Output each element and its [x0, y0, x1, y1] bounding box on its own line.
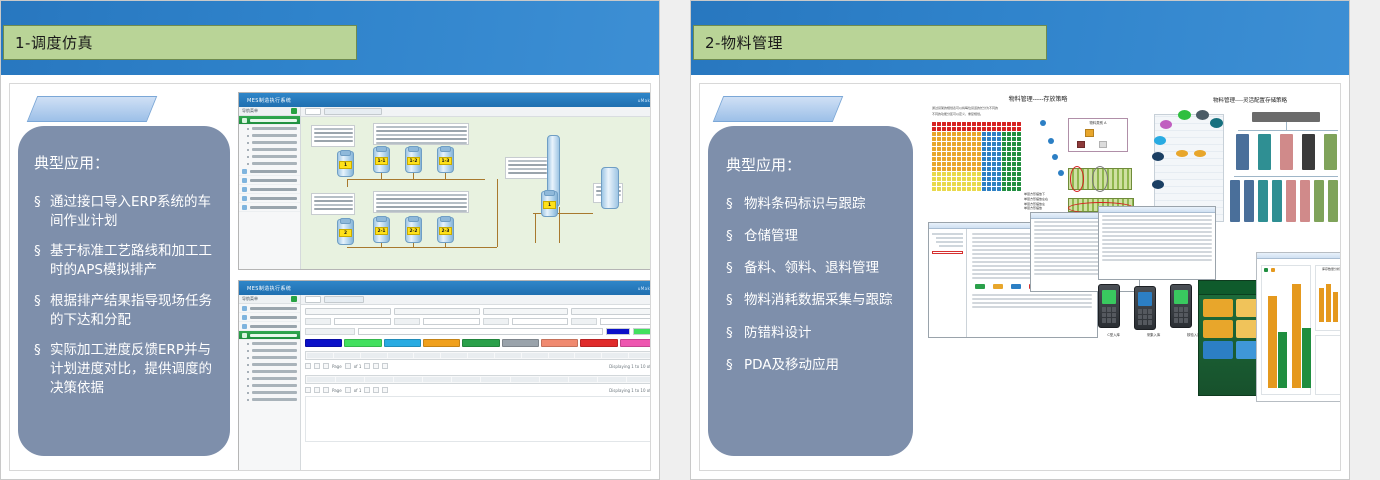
sidebar-subitem[interactable] [239, 396, 300, 403]
sidebar-subitem-label [252, 342, 297, 345]
page-of-label: of 1 [354, 364, 362, 369]
storage-slot [957, 142, 961, 146]
sidebar-item-label [250, 119, 297, 122]
tab-production-line[interactable] [324, 108, 382, 115]
storage-slot [942, 127, 946, 131]
storage-slot [947, 147, 951, 151]
storage-slot [962, 177, 966, 181]
toolbar-button[interactable] [394, 308, 480, 315]
storage-slot [997, 172, 1001, 176]
grid-pager-2[interactable]: Page of 1 Displaying 1 to 10 of 10 [305, 387, 651, 393]
storage-slot [997, 157, 1001, 161]
pda-screen [1138, 292, 1152, 306]
grid-column [423, 377, 451, 382]
storage-slot [932, 172, 936, 176]
storage-slot [987, 172, 991, 176]
bullet-item: § PDA及移动应用 [726, 356, 899, 375]
tank-vessel: 2-1 [373, 217, 390, 243]
pipe-segment [559, 207, 560, 243]
storage-slot [932, 137, 936, 141]
storage-slot [947, 187, 951, 191]
storage-slot [952, 132, 956, 136]
pda-keypad[interactable] [1138, 309, 1152, 325]
tank-label: 1-3 [439, 157, 452, 165]
action-button-fix[interactable] [620, 339, 651, 347]
mes-titlebar: MES制造执行系统 uMaker [239, 93, 651, 107]
grid-header [305, 351, 651, 360]
field-label [305, 328, 355, 335]
mes-brand: uMaker [638, 286, 651, 291]
field-label [571, 318, 597, 325]
storage-slot [967, 182, 971, 186]
storage-slot [1007, 137, 1011, 141]
storage-slot [932, 127, 936, 131]
sidebar-item-system-mgmt[interactable] [239, 313, 300, 322]
storage-slot [972, 177, 976, 181]
storage-slot [1017, 187, 1021, 191]
storage-slot [952, 127, 956, 131]
storage-slot [1012, 122, 1016, 126]
storage-slot [947, 182, 951, 186]
status-input[interactable] [358, 328, 603, 335]
toolbar-row[interactable] [305, 308, 651, 315]
callout-balloon [1154, 136, 1166, 145]
inventory-bar-chart-window[interactable]: 库存数量分析 [1256, 252, 1341, 402]
highlight-ellipse-red [1070, 166, 1084, 192]
bullet-text: 通过接口导入ERP系统的车间作业计划 [50, 193, 216, 231]
terminal-tile[interactable] [1203, 320, 1233, 338]
prev-page-button[interactable] [323, 387, 329, 393]
action-button-cancel[interactable] [580, 339, 617, 347]
storage-slot [977, 142, 981, 146]
production-plan-form: Page of 1 Displaying 1 to 10 of 10 [301, 305, 651, 471]
energy-icon [242, 205, 247, 210]
date-input[interactable] [334, 318, 391, 325]
storage-slot [972, 127, 976, 131]
last-page-button[interactable] [373, 387, 379, 393]
storage-slot [957, 137, 961, 141]
mes-sidebar[interactable]: 导航菜单 [239, 107, 301, 269]
sidebar-item-energy-mgmt[interactable] [239, 203, 300, 212]
refresh-button[interactable] [382, 387, 388, 393]
storage-slot [997, 152, 1001, 156]
sidebar-subitem[interactable] [239, 347, 300, 354]
storage-slot [982, 132, 986, 136]
storage-slot [942, 187, 946, 191]
storage-slot [1017, 147, 1021, 151]
sidebar-item-production-monitor[interactable] [239, 304, 300, 313]
sidebar-item-label [250, 179, 297, 182]
tree-node-aux [1324, 134, 1337, 170]
toolbar-button[interactable] [305, 308, 391, 315]
tank-info-box [505, 157, 549, 179]
bullet-dot-icon [247, 399, 249, 401]
storage-slot [1012, 162, 1016, 166]
storage-slot [1007, 142, 1011, 146]
storage-slot [987, 132, 991, 136]
grid-column [511, 377, 539, 382]
storage-slot [952, 157, 956, 161]
storage-slot [1017, 127, 1021, 131]
sidebar-subitem[interactable] [239, 146, 300, 153]
mes-process-flow-screenshot[interactable]: MES制造执行系统 uMaker 导航菜单 [238, 92, 651, 270]
action-button-smart[interactable] [541, 339, 578, 347]
terminal-tile[interactable] [1203, 299, 1233, 317]
bullet-text: 实际加工进度反馈ERP并与计划进度对比，提供调度的决策依据 [50, 341, 216, 398]
storage-slot [1012, 167, 1016, 171]
toolbar-button[interactable] [483, 308, 569, 315]
mode-select[interactable] [512, 318, 569, 325]
storage-slot [957, 152, 961, 156]
bullet-text: 物料消耗数据采集与跟踪 [744, 291, 899, 310]
storage-slot [947, 137, 951, 141]
storage-slot [1017, 122, 1021, 126]
storage-slot [1017, 157, 1021, 161]
storage-strategy-note-1: 通过货架的规划表可以将每位货道的长分为不同的 [932, 106, 1148, 111]
storage-slot [1017, 182, 1021, 186]
bar-item [1333, 292, 1338, 322]
sidebar-subitem[interactable] [239, 389, 300, 396]
grid-column [336, 377, 364, 382]
sidebar-item-label [250, 325, 297, 328]
grid-status-text: Displaying 1 to 10 of 10 [609, 388, 651, 393]
storage-slot [947, 172, 951, 176]
tank-label: 2-3 [439, 227, 452, 235]
pda-device-group[interactable]: C型入库 采集入库 核验入库 [1094, 280, 1214, 360]
sidebar-item-plan-schedule[interactable] [239, 185, 300, 194]
storage-slot [1002, 127, 1006, 131]
grid-status-text: Displaying 1 to 10 of 10 [609, 364, 651, 369]
storage-slot [987, 162, 991, 166]
sidebar-item-production-model[interactable] [239, 176, 300, 185]
material-cube-icon [1099, 141, 1107, 148]
line-select[interactable] [600, 318, 651, 325]
mes-title: MES制造执行系统 [247, 285, 291, 292]
mes-sidebar[interactable]: 导航菜单 [239, 295, 301, 471]
card-title: 典型应用： [34, 152, 216, 173]
bar-actual [1278, 332, 1287, 388]
toolbar-button[interactable] [571, 308, 651, 315]
storage-slot [937, 127, 941, 131]
window-titlebar [1099, 207, 1215, 213]
tank-label: 1-1 [375, 157, 388, 165]
mes-body: 导航菜单 [239, 295, 651, 471]
material-type-box: 物料类别 A [1068, 118, 1128, 152]
tree-leaf [1258, 180, 1268, 222]
sidebar-subitem[interactable] [239, 340, 300, 347]
confirm-badge[interactable] [606, 328, 630, 335]
storage-slot [1012, 182, 1016, 186]
sidebar-subitem[interactable] [239, 153, 300, 160]
tank-label: 2-1 [375, 227, 388, 235]
grid-column [334, 353, 360, 358]
storage-slot [967, 132, 971, 136]
grid-column [452, 377, 480, 382]
pda-keypad[interactable] [1174, 307, 1188, 323]
section-marker-icon: § [34, 292, 50, 330]
storage-slot [982, 182, 986, 186]
pda-screen [1174, 290, 1188, 304]
storage-slot-grid [932, 122, 1021, 191]
storage-slot [987, 142, 991, 146]
storage-slot [1017, 137, 1021, 141]
sidebar-subitem[interactable] [239, 125, 300, 132]
prev-page-button[interactable] [323, 363, 329, 369]
bar-item [1340, 286, 1341, 322]
first-page-button[interactable] [314, 363, 320, 369]
chart-panel-main [1261, 265, 1311, 395]
pipe-segment [497, 179, 498, 247]
storage-slot [977, 147, 981, 151]
storage-slot [937, 142, 941, 146]
storage-slot [992, 187, 996, 191]
storage-slot [977, 187, 981, 191]
sidebar-subitem-label [252, 377, 297, 380]
tree-leaf [1314, 180, 1324, 222]
tank-label: 1 [339, 161, 352, 169]
terminal-tile[interactable] [1203, 341, 1233, 359]
sidebar-item-production-model[interactable] [239, 322, 300, 331]
storage-slot [982, 142, 986, 146]
action-button-release[interactable] [344, 339, 381, 347]
tab-home[interactable] [305, 108, 321, 115]
sidebar-subitem[interactable] [239, 368, 300, 375]
pipe-segment [347, 179, 485, 180]
sidebar-subitem[interactable] [239, 361, 300, 368]
sidebar-item-label [250, 197, 297, 200]
route-input[interactable] [423, 318, 480, 325]
storage-slot [977, 167, 981, 171]
page-size-select[interactable] [305, 387, 311, 393]
sidebar-subitem[interactable] [239, 382, 300, 389]
action-button-confirm[interactable] [423, 339, 460, 347]
storage-slot [992, 172, 996, 176]
pda-device[interactable] [1170, 284, 1192, 328]
window-content[interactable] [1099, 215, 1215, 261]
storage-slot [1007, 172, 1011, 176]
pda-keypad[interactable] [1102, 307, 1116, 323]
action-button-execute[interactable] [462, 339, 499, 347]
bullet-text: 根据排产结果指导现场任务的下达和分配 [50, 292, 216, 330]
forklift-icon [1176, 150, 1188, 157]
storage-slot [932, 122, 936, 126]
page-number-input[interactable] [345, 387, 351, 393]
storage-slot [1012, 127, 1016, 131]
bullet-dot-icon [247, 149, 249, 151]
action-button-update[interactable] [384, 339, 421, 347]
chart-caption: 库存数量分析 [1316, 267, 1341, 271]
pda-device[interactable] [1134, 286, 1156, 330]
storage-slot [967, 167, 971, 171]
storage-slot [932, 147, 936, 151]
bullet-dot-icon [247, 142, 249, 144]
window-tree-pane[interactable] [929, 229, 967, 337]
sidebar-item-production-monitor[interactable] [239, 116, 300, 125]
action-button-row[interactable] [305, 339, 651, 347]
storage-slot [952, 182, 956, 186]
storage-slot [1007, 187, 1011, 191]
grid-column [394, 377, 422, 382]
storage-slot [972, 152, 976, 156]
mes-tabbar[interactable] [301, 295, 651, 305]
mes-body: 导航菜单 [239, 107, 651, 269]
storage-slot [942, 122, 946, 126]
sidebar-item-label [250, 316, 297, 319]
storage-slot [992, 132, 996, 136]
storage-slot [977, 172, 981, 176]
sidebar-header-label: 导航菜单 [242, 108, 258, 114]
storage-slot [987, 157, 991, 161]
filter-row-2[interactable] [305, 328, 651, 335]
storage-slot [962, 172, 966, 176]
storage-slot [947, 127, 951, 131]
storage-slot [1002, 152, 1006, 156]
sidebar-subitem[interactable] [239, 160, 300, 167]
sidebar-subitem[interactable] [239, 139, 300, 146]
model-icon [242, 324, 247, 329]
storage-slot [1017, 152, 1021, 156]
pda-label: 采集入库 [1147, 332, 1161, 337]
release-badge[interactable] [633, 328, 651, 335]
page-number-input[interactable] [345, 363, 351, 369]
collapse-icon[interactable] [291, 108, 297, 114]
pda-device[interactable] [1098, 284, 1120, 328]
storage-slot [957, 127, 961, 131]
page-size-select[interactable] [305, 363, 311, 369]
storage-slot [932, 142, 936, 146]
mes-main-area: 1 1-1 1-2 1-3 2 2-1 2-2 2-3 1 [301, 107, 651, 269]
next-page-button[interactable] [364, 363, 370, 369]
storage-slot [967, 127, 971, 131]
monitor-icon [242, 118, 247, 123]
storage-slot [962, 187, 966, 191]
storage-slot [1007, 162, 1011, 166]
storage-slot [942, 132, 946, 136]
tab-home[interactable] [305, 296, 321, 303]
sidebar-item-plan-schedule[interactable] [239, 331, 300, 340]
mes-production-plan-screenshot[interactable]: MES制造执行系统 uMaker 导航菜单 [238, 280, 651, 471]
bullet-dot-icon [247, 343, 249, 345]
sidebar-item-process-mgmt[interactable] [239, 194, 300, 203]
storage-slot [972, 147, 976, 151]
callout-marker-1 [1040, 120, 1046, 126]
storage-slot [947, 167, 951, 171]
grid-column [441, 353, 467, 358]
storage-slot [977, 162, 981, 166]
section-marker-icon: § [726, 356, 744, 375]
action-button-verify[interactable] [502, 339, 539, 347]
storage-slot [992, 157, 996, 161]
material-query-window[interactable] [1098, 206, 1216, 280]
storage-slot [972, 167, 976, 171]
grid-column [540, 377, 568, 382]
tank-info-box [373, 123, 469, 145]
storage-slot [992, 167, 996, 171]
tank-label: 2-2 [407, 227, 420, 235]
first-page-button[interactable] [314, 387, 320, 393]
storage-slot [957, 172, 961, 176]
grid-column [629, 353, 651, 358]
storage-slot [1007, 157, 1011, 161]
section-marker-icon: § [34, 341, 50, 398]
filter-row[interactable] [305, 318, 651, 325]
storage-slot [942, 172, 946, 176]
sidebar-item-system-mgmt[interactable] [239, 167, 300, 176]
slide-header-band: 1-调度仿真 [1, 1, 659, 75]
storage-slot [1012, 172, 1016, 176]
refresh-button[interactable] [382, 363, 388, 369]
sidebar-subitem-label [252, 127, 297, 130]
storage-slot [962, 167, 966, 171]
action-button-simulate[interactable] [305, 339, 342, 347]
storage-slot [947, 152, 951, 156]
storage-slot [1007, 147, 1011, 151]
callout-balloon [1196, 110, 1209, 120]
page-label: Page [332, 364, 342, 369]
sidebar-subitem-label [252, 134, 297, 137]
pda-label: C型入库 [1107, 332, 1120, 337]
storage-slot [942, 152, 946, 156]
mes-tabbar[interactable] [301, 107, 651, 117]
storage-slot [937, 137, 941, 141]
tank-vessel: 1-1 [373, 147, 390, 173]
slide-title-chip: 2-物料管理 [693, 25, 1047, 60]
grid-pager[interactable]: Page of 1 Displaying 1 to 10 of 10 [305, 363, 651, 369]
storage-slot [952, 187, 956, 191]
storage-slot [947, 122, 951, 126]
storage-slot [957, 182, 961, 186]
tree-node-raw [1236, 134, 1249, 170]
storage-slot [932, 167, 936, 171]
bullet-dot-icon [247, 364, 249, 366]
next-page-button[interactable] [364, 387, 370, 393]
sidebar-item-label [250, 334, 297, 337]
banner-shape [27, 96, 158, 122]
mes-main-area: Page of 1 Displaying 1 to 10 of 10 [301, 295, 651, 471]
sidebar-subitem-label [252, 155, 297, 158]
callout-balloon [1178, 110, 1191, 120]
storage-slot [972, 137, 976, 141]
tab-production-mgmt[interactable] [324, 296, 364, 303]
sidebar-subitem[interactable] [239, 132, 300, 139]
storage-slot [1002, 122, 1006, 126]
sidebar-subitem[interactable] [239, 375, 300, 382]
grid-column [549, 353, 575, 358]
page-of-label: of 1 [354, 388, 362, 393]
slide-title-text: 1-调度仿真 [15, 32, 93, 53]
storage-slot [952, 137, 956, 141]
sidebar-subitem[interactable] [239, 354, 300, 361]
section-marker-icon: § [34, 242, 50, 280]
storage-slot [962, 182, 966, 186]
storage-slot [982, 152, 986, 156]
grid-empty-body [305, 396, 651, 442]
storage-slot [1017, 177, 1021, 181]
collapse-icon[interactable] [291, 296, 297, 302]
grid-column [468, 353, 494, 358]
sidebar-subitem-label [252, 384, 297, 387]
page-label: Page [332, 388, 342, 393]
storage-slot [977, 177, 981, 181]
tank-vessel: 1 [337, 151, 354, 177]
chart-panel-tertiary [1315, 335, 1341, 395]
storage-slot [992, 162, 996, 166]
bullet-item: § 实际加工进度反馈ERP并与计划进度对比，提供调度的决策依据 [34, 341, 216, 398]
storage-slot [987, 187, 991, 191]
storage-slot [967, 152, 971, 156]
last-page-button[interactable] [373, 363, 379, 369]
storage-slot [997, 137, 1001, 141]
